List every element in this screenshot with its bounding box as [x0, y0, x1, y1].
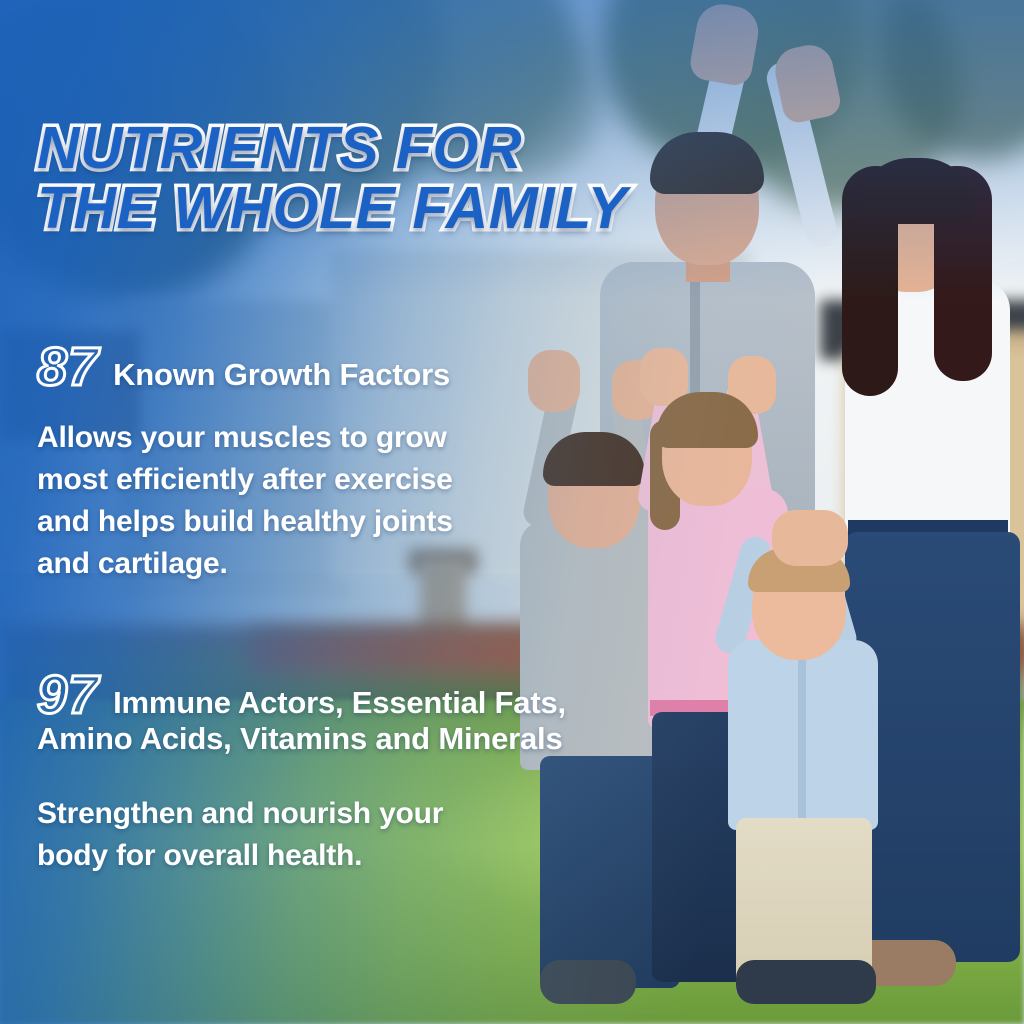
stat-block-immune-actors: 97 Immune Actors, Essential Fats, Amino …	[37, 668, 566, 877]
stat-heading: 87 Known Growth Factors	[37, 340, 453, 395]
description-line: and cartilage.	[37, 543, 453, 585]
page-title: NUTRIENTS FOR THE WHOLE FAMILY	[37, 118, 697, 238]
stat-title-97-line-1: Immune Actors, Essential Fats,	[113, 683, 566, 723]
stat-block-growth-factors: 87 Known Growth Factors Allows your musc…	[37, 340, 453, 585]
description-line: and helps build healthy joints	[37, 501, 453, 543]
stat-heading: 97 Immune Actors, Essential Fats,	[37, 668, 566, 723]
description-line: most efficiently after exercise	[37, 459, 453, 501]
stat-number-97: 97	[37, 668, 99, 722]
stat-title-97-line-2: Amino Acids, Vitamins and Minerals	[37, 719, 566, 759]
description-line: Strengthen and nourish your	[37, 793, 517, 835]
content-layer: NUTRIENTS FOR THE WHOLE FAMILY 87 Known …	[0, 0, 1024, 1024]
description-line: Allows your muscles to grow	[37, 417, 453, 459]
promo-graphic: NUTRIENTS FOR THE WHOLE FAMILY 87 Known …	[0, 0, 1024, 1024]
headline-line-1: NUTRIENTS FOR	[37, 118, 697, 178]
stat-title-87: Known Growth Factors	[113, 355, 450, 395]
stat-number-87: 87	[37, 340, 99, 394]
headline-line-2: THE WHOLE FAMILY	[37, 178, 697, 238]
stat-description-97: Strengthen and nourish your body for ove…	[37, 793, 517, 877]
description-line: body for overall health.	[37, 835, 517, 877]
stat-description-87: Allows your muscles to grow most efficie…	[37, 417, 453, 585]
